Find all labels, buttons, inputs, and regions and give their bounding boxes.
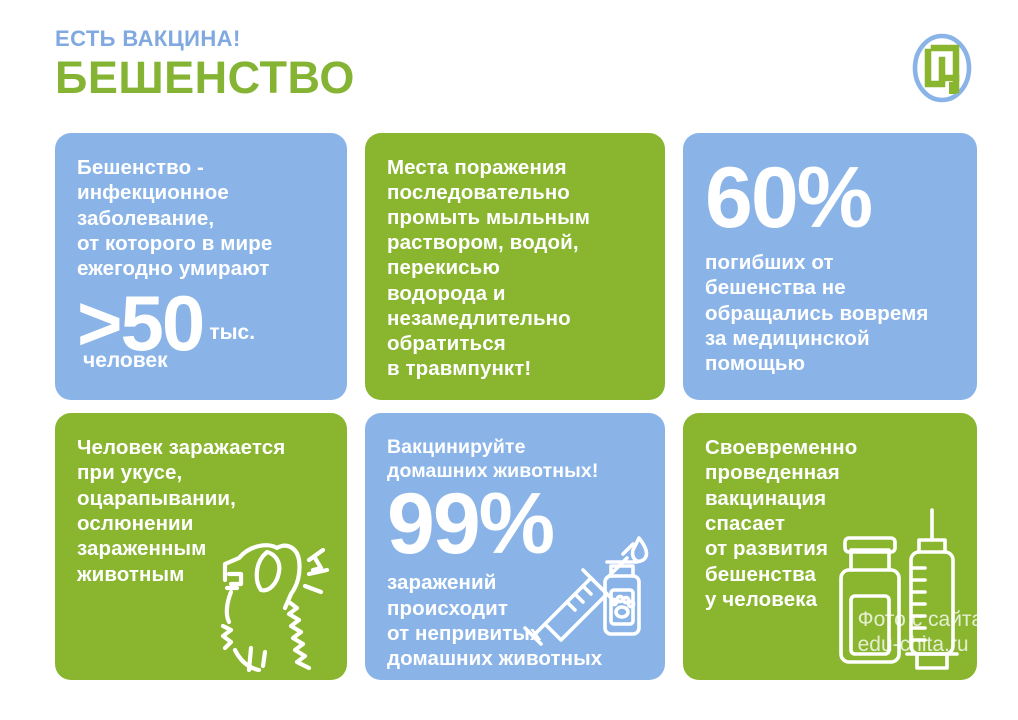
header-titles: ЕСТЬ ВАКЦИНА! БЕШЕНСТВО (55, 28, 355, 101)
card-transmission-text: Человек заражается при укусе, оцарапыван… (77, 435, 329, 587)
card-transmission: Человек заражается при укусе, оцарапыван… (55, 413, 347, 680)
stat-value-50-thousand: >50 (77, 288, 203, 360)
card-rabies-definition: Бешенство - инфекционное заболевание, от… (55, 133, 347, 400)
card-timely-vaccination: Своевременно проведенная вакцинация спас… (683, 413, 977, 680)
card-60-percent: 60% погибших от бешенства не обращались … (683, 133, 977, 400)
facts-grid: Бешенство - инфекционное заболевание, от… (55, 133, 977, 680)
stat-value-99-percent: 99% (387, 485, 647, 564)
page-header: ЕСТЬ ВАКЦИНА! БЕШЕНСТВО (0, 0, 1018, 133)
card-timely-vaccination-text: Своевременно проведенная вакцинация спас… (705, 435, 959, 612)
source-watermark: Фото с сайта edu-chita.ru (858, 608, 977, 658)
card-rabies-definition-text: Бешенство - инфекционное заболевание, от… (77, 155, 329, 282)
stat-value-60-percent: 60% (705, 159, 959, 238)
card-99-percent-text: заражений происходит от непривитых домаш… (387, 570, 647, 671)
header-kicker: ЕСТЬ ВАКЦИНА! (55, 28, 355, 50)
page-title: БЕШЕНСТВО (55, 54, 355, 101)
stat-unit-thousand: тыс. (209, 321, 255, 359)
tsg-monogram-logo (908, 30, 976, 106)
card-wound-treatment-text: Места поражения последовательно промыть … (387, 155, 647, 381)
card-60-percent-text: погибших от бешенства не обращались вовр… (705, 250, 959, 377)
card-rabies-definition-figure: >50 тыс. человек (77, 288, 329, 374)
card-99-percent: Вакцинируйте домашних животных! 99% зара… (365, 413, 665, 680)
card-wound-treatment: Места поражения последовательно промыть … (365, 133, 665, 400)
